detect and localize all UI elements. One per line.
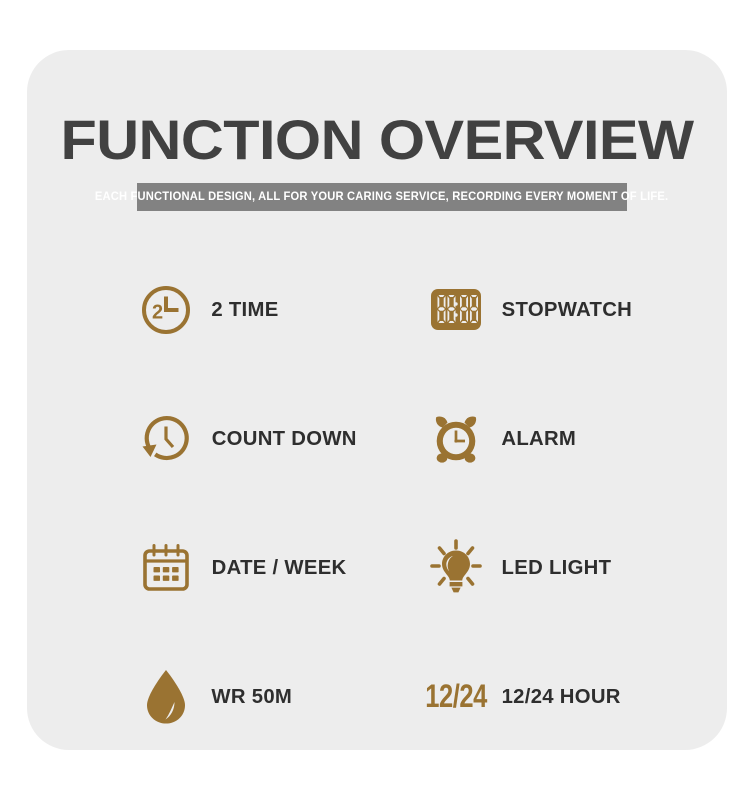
screenshot-root: FUNCTION OVERVIEW EACH FUNCTIONAL DESIGN… xyxy=(0,0,750,800)
feature-item-alarm[interactable]: ALARM xyxy=(425,405,715,473)
light-bulb-icon xyxy=(425,537,487,599)
twelve-twentyfour-icon: 12/24 xyxy=(425,666,487,728)
water-drop-icon xyxy=(135,666,197,728)
calendar-icon xyxy=(135,537,197,599)
feature-grid: 2 2 TIME xyxy=(27,246,727,726)
feature-item-12-24-hour[interactable]: 12/24 12/24 HOUR xyxy=(425,663,715,731)
feature-label: WR 50M xyxy=(211,686,292,708)
feature-label: ALARM xyxy=(501,428,576,450)
alarm-clock-icon xyxy=(425,408,487,470)
feature-item-date-week[interactable]: DATE / WEEK xyxy=(135,534,425,602)
feature-label: 12/24 HOUR xyxy=(502,686,621,708)
clock-two-icon: 2 xyxy=(135,279,197,341)
feature-item-count-down[interactable]: COUNT DOWN xyxy=(135,405,425,473)
feature-item-wr-50m[interactable]: WR 50M xyxy=(135,663,425,731)
function-overview-card: FUNCTION OVERVIEW EACH FUNCTIONAL DESIGN… xyxy=(27,50,727,750)
page-title: FUNCTION OVERVIEW xyxy=(44,111,710,169)
subtitle-text: EACH FUNCTIONAL DESIGN, ALL FOR YOUR CAR… xyxy=(95,191,668,203)
digital-display-icon xyxy=(425,279,487,341)
feature-item-stopwatch[interactable]: STOPWATCH xyxy=(425,276,715,344)
twelve-twentyfour-icon-text: 12/24 xyxy=(425,680,487,714)
subtitle-banner: EACH FUNCTIONAL DESIGN, ALL FOR YOUR CAR… xyxy=(137,183,627,211)
feature-label: LED LIGHT xyxy=(502,557,612,579)
feature-label: COUNT DOWN xyxy=(212,428,357,450)
feature-item-2-time[interactable]: 2 2 TIME xyxy=(135,276,425,344)
countdown-clock-icon xyxy=(135,408,197,470)
feature-label: STOPWATCH xyxy=(502,299,632,321)
feature-label: 2 TIME xyxy=(211,299,278,321)
feature-label: DATE / WEEK xyxy=(212,557,347,579)
feature-item-led-light[interactable]: LED LIGHT xyxy=(425,534,715,602)
svg-text:2: 2 xyxy=(152,302,163,324)
